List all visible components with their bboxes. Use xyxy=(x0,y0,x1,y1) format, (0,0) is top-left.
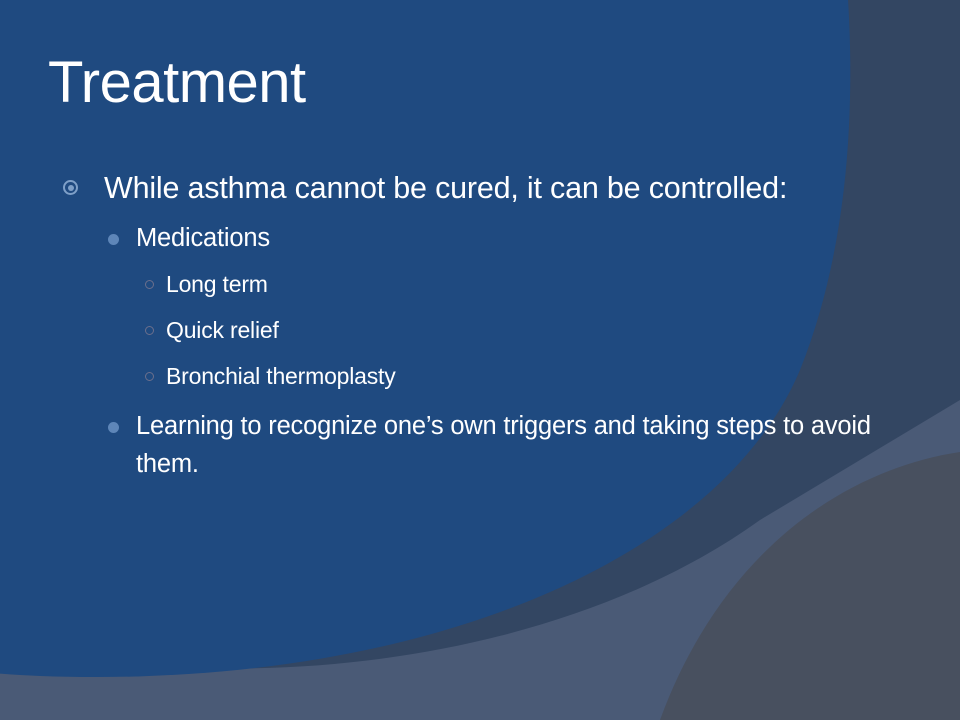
bullet-text: While asthma cannot be cured, it can be … xyxy=(104,171,787,205)
bullet-text: Quick relief xyxy=(166,317,279,343)
hollow-circle-bullet-icon xyxy=(145,280,154,289)
filled-circle-bullet-icon xyxy=(108,234,119,245)
hollow-circle-bullet-icon xyxy=(145,326,154,335)
bullet-text: Medications xyxy=(136,224,270,252)
bullet-item-quick-relief[interactable]: Quick relief xyxy=(0,307,900,353)
bullet-text: Learning to recognize one’s own triggers… xyxy=(136,412,871,478)
bullet-item-level1[interactable]: While asthma cannot be cured, it can be … xyxy=(0,168,900,209)
bullet-item-learning-triggers[interactable]: Learning to recognize one’s own triggers… xyxy=(0,407,900,483)
bullet-item-long-term[interactable]: Long term xyxy=(0,261,900,307)
slide-title: Treatment xyxy=(48,52,306,115)
presentation-slide: Treatment While asthma cannot be cured, … xyxy=(0,0,960,720)
bullet-text: Bronchial thermoplasty xyxy=(166,363,396,389)
bullet-item-medications[interactable]: Medications xyxy=(0,219,900,257)
slide-body-list: While asthma cannot be cured, it can be … xyxy=(0,168,900,483)
filled-circle-bullet-icon xyxy=(108,422,119,433)
bullet-item-bronchial-thermoplasty[interactable]: Bronchial thermoplasty xyxy=(0,353,900,399)
target-bullet-icon xyxy=(63,180,78,195)
bullet-group-level2: Medications Long term Quick relief Bronc… xyxy=(0,219,900,483)
bullet-text: Long term xyxy=(166,271,268,297)
hollow-circle-bullet-icon xyxy=(145,372,154,381)
slide-content: Treatment While asthma cannot be cured, … xyxy=(0,0,960,720)
bullet-group-level3: Long term Quick relief Bronchial thermop… xyxy=(0,261,900,399)
